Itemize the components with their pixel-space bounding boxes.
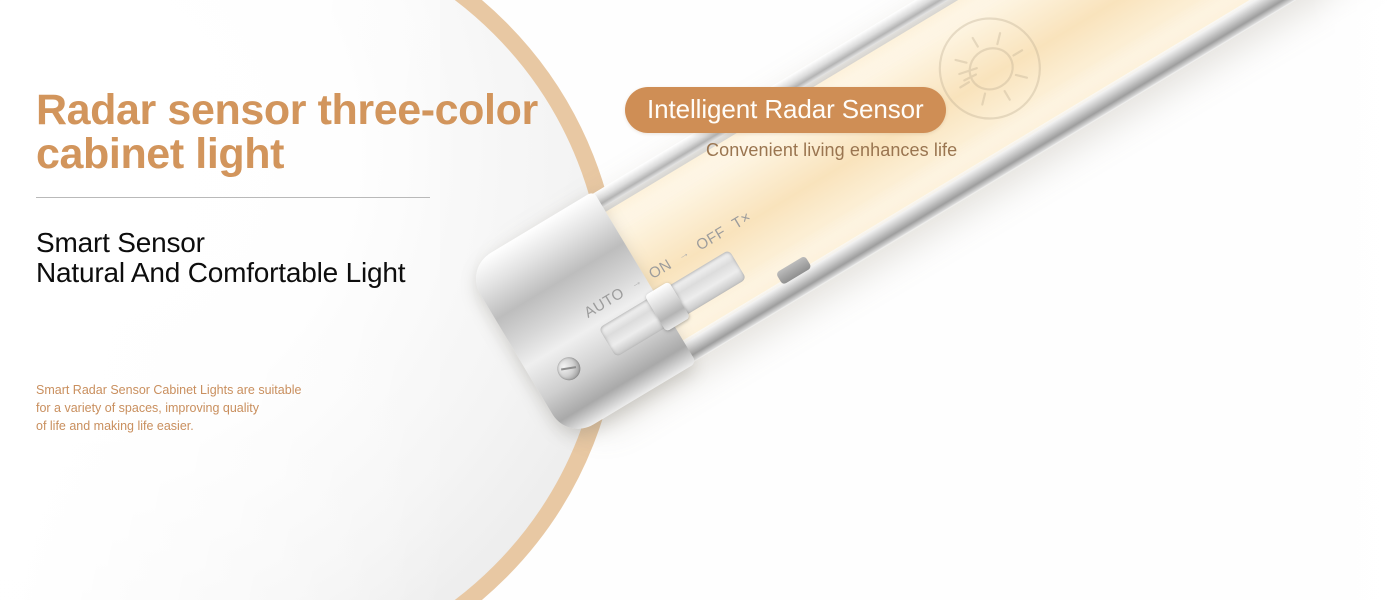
switch-label-off: OFF — [693, 223, 729, 254]
arrow-right-icon-2: → — [676, 247, 692, 263]
divider — [36, 197, 430, 198]
feature-badge: Intelligent Radar Sensor — [625, 87, 946, 133]
switch-label-on: ON — [646, 255, 675, 282]
tagline: Convenient living enhances life — [706, 140, 957, 161]
product-banner: AUTO → ON → OFF T× — [0, 0, 1400, 600]
subheading: Smart Sensor Natural And Comfortable Lig… — [36, 228, 405, 287]
power-port — [776, 256, 812, 286]
switch-label-group: AUTO → ON → OFF T× — [579, 133, 875, 325]
headline-block: Radar sensor three-color cabinet light — [36, 88, 556, 177]
page-title: Radar sensor three-color cabinet light — [36, 88, 556, 177]
lamp-edge-fade — [1312, 0, 1400, 600]
switch-trailing-mark: T× — [729, 208, 754, 232]
body-description: Smart Radar Sensor Cabinet Lights are su… — [36, 381, 301, 435]
arrow-right-icon: → — [628, 275, 644, 291]
slide-switch-knob[interactable] — [645, 281, 691, 331]
